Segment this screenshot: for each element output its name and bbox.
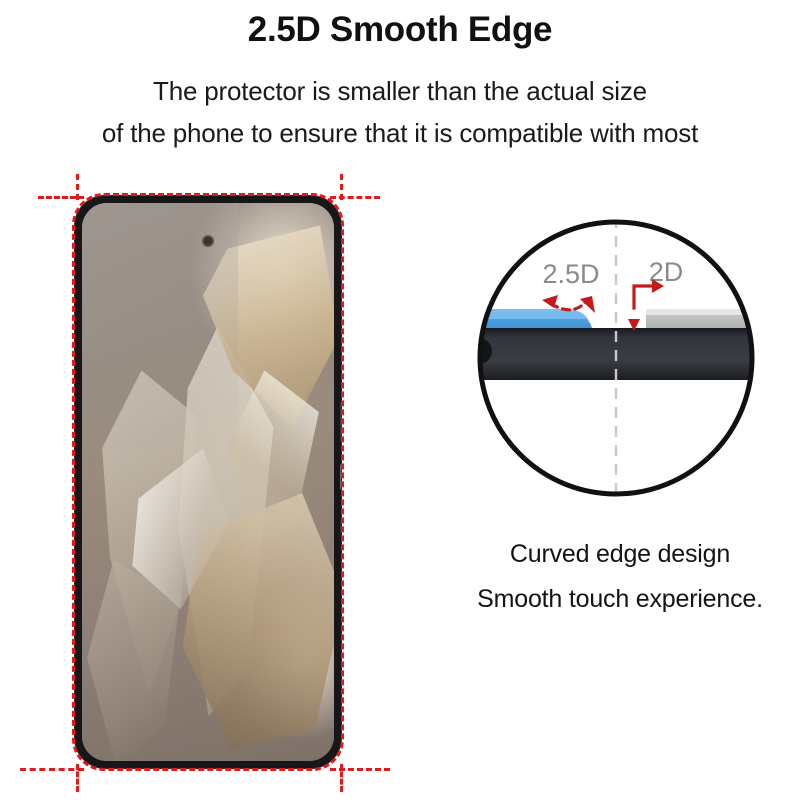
cross-section-illustration: 2.5D 2D: [470, 205, 770, 515]
phone-screen: [82, 203, 334, 761]
label-2-5d: 2.5D: [542, 259, 599, 289]
wallpaper-crystal-image: [82, 203, 334, 761]
power-button[interactable]: [340, 464, 341, 490]
guide-tick-top-left: [76, 174, 79, 200]
guide-line-bottom-right: [330, 768, 390, 771]
smartphone-device: [75, 196, 341, 768]
edge-comparison-diagram: 2.5D 2D: [470, 205, 770, 515]
guide-tick-bottom-right: [340, 764, 343, 792]
subtitle-line-2: of the phone to ensure that it is compat…: [0, 118, 800, 149]
guide-tick-bottom-left: [76, 764, 79, 792]
product-feature-image: 2.5D Smooth Edge The protector is smalle…: [0, 0, 800, 800]
side-button[interactable]: [340, 520, 341, 534]
caption-line-1: Curved edge design: [440, 540, 800, 569]
punch-hole-camera-icon: [202, 235, 214, 247]
subtitle-line-1: The protector is smaller than the actual…: [0, 76, 800, 107]
volume-button[interactable]: [340, 402, 341, 442]
guide-line-top-right: [330, 196, 380, 199]
phone-mockup-area: [0, 160, 420, 800]
caption-line-2: Smooth touch experience.: [440, 585, 800, 614]
guide-tick-top-right: [340, 174, 343, 200]
screen-glare: [82, 203, 238, 449]
page-title: 2.5D Smooth Edge: [0, 10, 800, 50]
guide-line-bottom-left: [20, 768, 84, 771]
